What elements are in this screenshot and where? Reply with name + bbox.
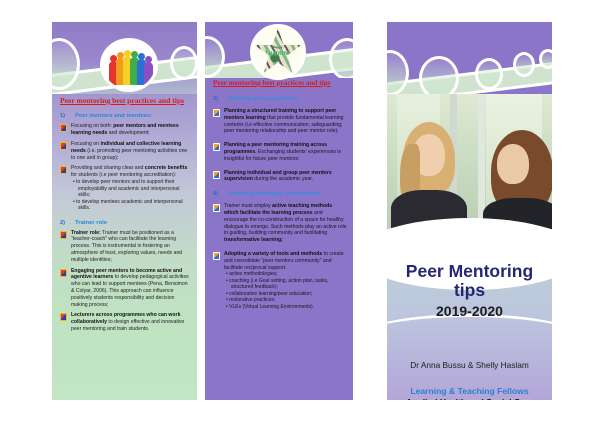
square-bullet-icon bbox=[213, 204, 220, 212]
sub-item: • coaching (i.e Goal setting, action pla… bbox=[224, 278, 347, 291]
band-ring-right bbox=[329, 38, 353, 78]
section-1-title: Peer mentors and mentees: bbox=[75, 113, 152, 119]
left-panel: Peer mentoring best practices and tips 1… bbox=[52, 22, 197, 400]
square-bullet-icon bbox=[213, 143, 220, 151]
star-cloud-background: Peer Learning bbox=[253, 27, 303, 77]
bullet-text: Planning individual and group peer mento… bbox=[224, 170, 347, 184]
list-item: Providing and sharing clear and concrete… bbox=[60, 165, 191, 211]
bullet-text: Engaging peer mentors to become active a… bbox=[71, 268, 191, 309]
right-panel-cover: Peer Mentoring tips 2019-2020 Dr Anna Bu… bbox=[387, 22, 552, 400]
band-ring-small bbox=[170, 46, 197, 80]
list-item: Planning a structured training to suppor… bbox=[213, 108, 347, 135]
star-word-learning: Learning bbox=[265, 51, 290, 57]
square-bullet-icon bbox=[213, 252, 220, 260]
diamond-bullet-icon bbox=[60, 166, 67, 174]
section-3: 3) Training and supervision: bbox=[213, 96, 347, 102]
left-content: Peer mentoring best practices and tips 1… bbox=[60, 96, 191, 333]
section-4-number: 4) bbox=[213, 191, 223, 197]
bullet-text: Focusing on both: peer mentors and mente… bbox=[71, 123, 191, 137]
bullet-text: Adopting a variety of tools and methods … bbox=[224, 251, 347, 310]
students-photo bbox=[387, 94, 552, 229]
student-right-face bbox=[497, 144, 529, 184]
sub-item: • to develop peer mentors and to support… bbox=[71, 179, 191, 199]
section-2: 2) Trainer role bbox=[60, 220, 191, 226]
leaflet-page: Peer mentoring best practices and tips 1… bbox=[0, 0, 600, 424]
list-item: Planning individual and group peer mento… bbox=[213, 170, 347, 184]
peer-learning-star-icon: Peer Learning bbox=[253, 27, 303, 77]
star-word-cloud-medallion: Peer Learning bbox=[250, 24, 306, 80]
diamond-bullet-icon bbox=[60, 124, 67, 132]
list-item: Focusing on individual and collective le… bbox=[60, 141, 191, 161]
sub-item: • to develop mentees academic and interp… bbox=[71, 199, 191, 212]
group-of-people-icon bbox=[103, 41, 155, 89]
cover-arc-outline bbox=[387, 314, 552, 363]
square-bullet-icon bbox=[213, 171, 220, 179]
diamond-bullet-icon bbox=[60, 231, 67, 239]
middle-content: Peer mentoring best practices and tips 3… bbox=[213, 79, 347, 310]
diamond-bullet-icon bbox=[60, 269, 67, 277]
bullet-text: Lecturers across programmes who can work… bbox=[71, 312, 191, 332]
band-ring-4 bbox=[513, 52, 535, 77]
right-header-band bbox=[387, 22, 552, 94]
left-panel-heading: Peer mentoring best practices and tips bbox=[60, 96, 191, 105]
section-2-number: 2) bbox=[60, 220, 70, 226]
diamond-bullet-icon bbox=[60, 142, 67, 150]
list-item: Trainer must employ active teaching meth… bbox=[213, 203, 347, 244]
section-1-number: 1) bbox=[60, 113, 70, 119]
band-ring-5 bbox=[539, 49, 552, 69]
square-bullet-icon bbox=[213, 109, 220, 117]
section-4-title: Teaching strategies and methods bbox=[228, 191, 321, 197]
title-line-1: Peer Mentoring bbox=[387, 262, 552, 281]
diamond-bullet-icon bbox=[60, 313, 67, 321]
section-3-title: Training and supervision: bbox=[228, 96, 300, 102]
title-line-2: tips bbox=[387, 281, 552, 300]
section-1: 1) Peer mentors and mentees: bbox=[60, 113, 191, 119]
band-ring-2 bbox=[419, 56, 459, 94]
section-3-number: 3) bbox=[213, 96, 223, 102]
bullet-text: Trainer role: Trainer must be positioned… bbox=[71, 230, 191, 264]
sub-list: • active methodologies; • coaching (i.e … bbox=[224, 271, 347, 310]
bullet-text: Planning a peer mentoring training acros… bbox=[224, 142, 347, 162]
section-4: 4) Teaching strategies and methods bbox=[213, 191, 347, 197]
people-medallion bbox=[100, 38, 158, 92]
bullet-text: Focusing on individual and collective le… bbox=[71, 141, 191, 161]
department-line: Applied Health and Social Care bbox=[387, 397, 552, 400]
list-item: Adopting a variety of tools and methods … bbox=[213, 251, 347, 310]
page-title: Peer Mentoring tips bbox=[387, 262, 552, 300]
list-item: Focusing on both: peer mentors and mente… bbox=[60, 123, 191, 137]
middle-panel: Peer Learning Peer mentoring best practi… bbox=[205, 22, 353, 400]
list-item: Lecturers across programmes who can work… bbox=[60, 312, 191, 332]
bullet-text: Trainer must employ active teaching meth… bbox=[224, 203, 347, 244]
list-item: Engaging peer mentors to become active a… bbox=[60, 268, 191, 309]
role-line: Learning & Teaching Fellows bbox=[387, 386, 552, 396]
list-item: Trainer role: Trainer must be positioned… bbox=[60, 230, 191, 264]
section-2-title: Trainer role bbox=[75, 220, 107, 226]
band-ring-3 bbox=[475, 58, 503, 90]
bullet-text: Planning a structured training to suppor… bbox=[224, 108, 347, 135]
authors-line: Dr Anna Bussu & Shelly Haslam bbox=[387, 360, 552, 370]
list-item: Planning a peer mentoring training acros… bbox=[213, 142, 347, 162]
middle-panel-heading: Peer mentoring best practices and tips bbox=[213, 79, 347, 88]
title-year: 2019-2020 bbox=[387, 303, 552, 319]
sub-item: • VLEs (Virtual Learning Environments). bbox=[224, 304, 347, 311]
bullet-text: Providing and sharing clear and concrete… bbox=[71, 165, 191, 211]
sub-list: • to develop peer mentors and to support… bbox=[71, 179, 191, 212]
